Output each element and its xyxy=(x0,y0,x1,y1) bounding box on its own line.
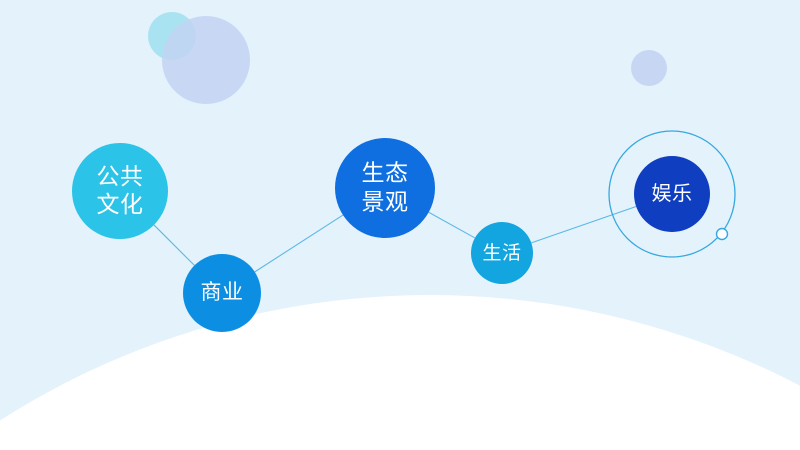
node-public-culture[interactable]: 公共文化 xyxy=(72,143,168,239)
node-eco-landscape[interactable]: 生态景观 xyxy=(335,138,435,238)
link-eco-landscape-living xyxy=(429,212,475,238)
node-entertainment[interactable]: 娱乐 xyxy=(609,131,735,257)
link-living-entertainment xyxy=(531,206,636,242)
link-commerce-eco-landscape xyxy=(255,215,343,272)
node-label-entertainment: 娱乐 xyxy=(652,181,693,205)
node-label-commerce: 商业 xyxy=(201,280,244,304)
orbit-marker-entertainment[interactable] xyxy=(717,229,728,240)
node-label-living: 生活 xyxy=(482,242,521,264)
node-living[interactable]: 生活 xyxy=(471,222,533,284)
node-commerce[interactable]: 商业 xyxy=(183,254,261,332)
node-circle-eco-landscape[interactable] xyxy=(335,138,435,238)
diagram-canvas: 公共文化商业生态景观生活娱乐 xyxy=(0,0,800,450)
graph-layer: 公共文化商业生态景观生活娱乐 xyxy=(0,0,800,450)
link-public-culture-commerce xyxy=(154,225,194,265)
node-group: 公共文化商业生态景观生活娱乐 xyxy=(72,131,735,332)
